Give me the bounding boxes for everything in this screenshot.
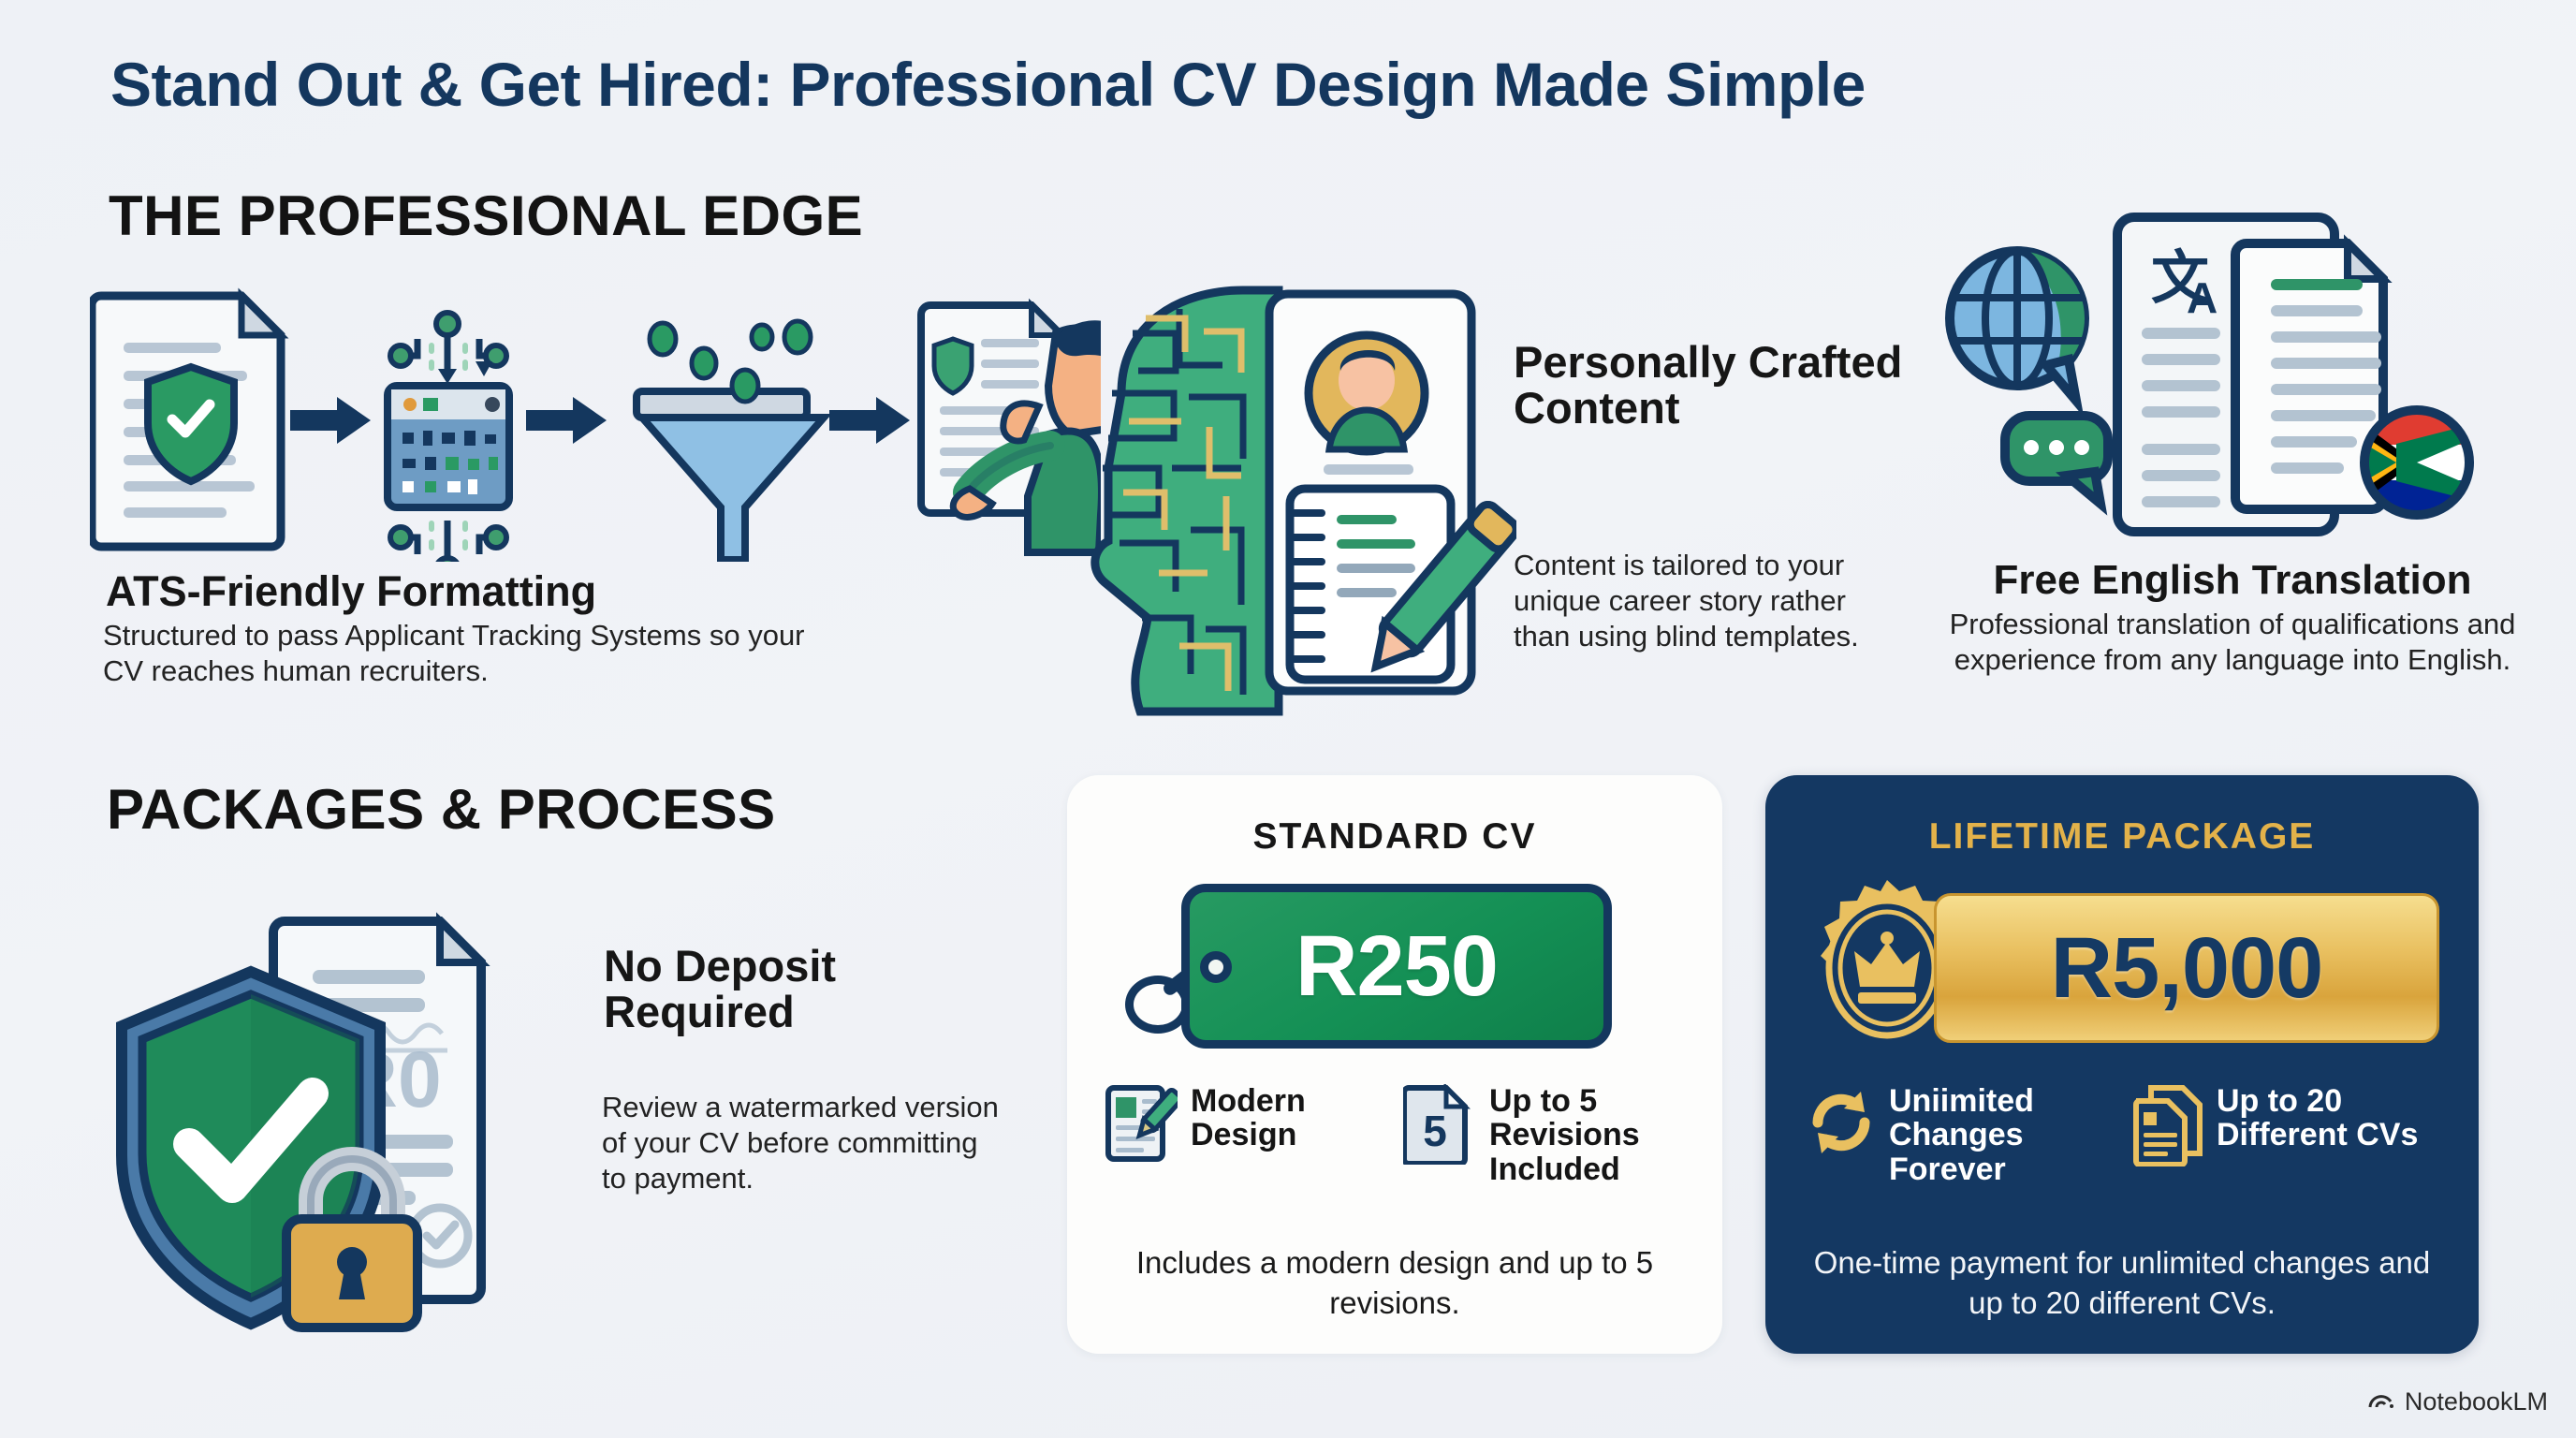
page-title: Stand Out & Get Hired: Professional CV D… bbox=[110, 49, 1866, 120]
package-note-standard: Includes a modern design and up to 5 rev… bbox=[1105, 1243, 1685, 1324]
package-feature-item: 5 Up to 5 Revisions Included bbox=[1403, 1084, 1685, 1186]
feature-title-no-deposit: No Deposit Required bbox=[604, 943, 969, 1035]
package-card-standard[interactable]: STANDARD CV R250 bbox=[1067, 775, 1722, 1354]
tag-hole-icon bbox=[1200, 951, 1232, 983]
globe-translate-illustration: 文 A bbox=[1926, 208, 2488, 564]
document-5-icon: 5 bbox=[1403, 1084, 1476, 1169]
package-features-standard: Modern Design 5 Up to 5 Revisions Includ… bbox=[1105, 1084, 1685, 1186]
feature-body-translation: Professional translation of qualificatio… bbox=[1928, 607, 2537, 678]
package-feature-label: Modern Design bbox=[1191, 1084, 1386, 1152]
notebooklm-label: NotebookLM bbox=[2405, 1387, 2548, 1416]
svg-text:A: A bbox=[2187, 273, 2217, 322]
price-lifetime: R5,000 bbox=[2051, 919, 2323, 1018]
package-feature-item: Modern Design bbox=[1105, 1084, 1386, 1186]
package-feature-item: Uniimited Changes Forever bbox=[1803, 1084, 2114, 1186]
package-name-standard: STANDARD CV bbox=[1067, 816, 1722, 858]
package-features-lifetime: Uniimited Changes Forever U bbox=[1803, 1084, 2441, 1186]
refresh-cycle-icon bbox=[1803, 1084, 1876, 1166]
feature-body-no-deposit: Review a watermarked version of your CV … bbox=[602, 1090, 1004, 1196]
package-feature-item: Up to 20 Different CVs bbox=[2130, 1084, 2441, 1186]
package-feature-label: Up to 20 Different CVs bbox=[2217, 1084, 2441, 1152]
section-heading-professional-edge: THE PROFESSIONAL EDGE bbox=[109, 183, 863, 248]
stacked-documents-icon bbox=[2130, 1084, 2203, 1171]
notebooklm-logo-icon bbox=[2367, 1387, 2395, 1417]
price-tag-body: R250 bbox=[1181, 884, 1612, 1049]
feature-body-ats: Structured to pass Applicant Tracking Sy… bbox=[103, 618, 852, 689]
notebooklm-watermark: NotebookLM bbox=[2367, 1387, 2548, 1417]
feature-title-ats: ATS-Friendly Formatting bbox=[106, 569, 596, 613]
price-plate-lifetime: R5,000 bbox=[1934, 893, 2439, 1043]
price-tag-standard: R250 bbox=[1116, 878, 1677, 1056]
package-card-lifetime[interactable]: LIFETIME PACKAGE R5,000 bbox=[1765, 775, 2479, 1354]
package-feature-label: Up to 5 Revisions Included bbox=[1489, 1084, 1685, 1186]
feature-title-translation: Free English Translation bbox=[1933, 559, 2532, 602]
infographic-canvas: Stand Out & Get Hired: Professional CV D… bbox=[0, 0, 2576, 1438]
document-pencil-icon bbox=[1105, 1084, 1178, 1167]
feature-body-content: Content is tailored to your unique caree… bbox=[1514, 548, 1907, 653]
package-name-lifetime: LIFETIME PACKAGE bbox=[1765, 816, 2479, 858]
package-note-lifetime: One-time payment for unlimited changes a… bbox=[1803, 1243, 2441, 1324]
ai-profile-notepad-illustration bbox=[1086, 281, 1516, 749]
price-standard: R250 bbox=[1295, 917, 1498, 1016]
section-heading-packages-process: PACKAGES & PROCESS bbox=[107, 777, 776, 842]
revisions-badge-number: 5 bbox=[1423, 1107, 1447, 1155]
feature-title-content: Personally Crafted Content bbox=[1514, 339, 1907, 432]
shield-lock-document-illustration: R0 bbox=[110, 889, 597, 1357]
ats-pipeline-illustration bbox=[90, 281, 1101, 562]
package-feature-label: Uniimited Changes Forever bbox=[1889, 1084, 2114, 1186]
